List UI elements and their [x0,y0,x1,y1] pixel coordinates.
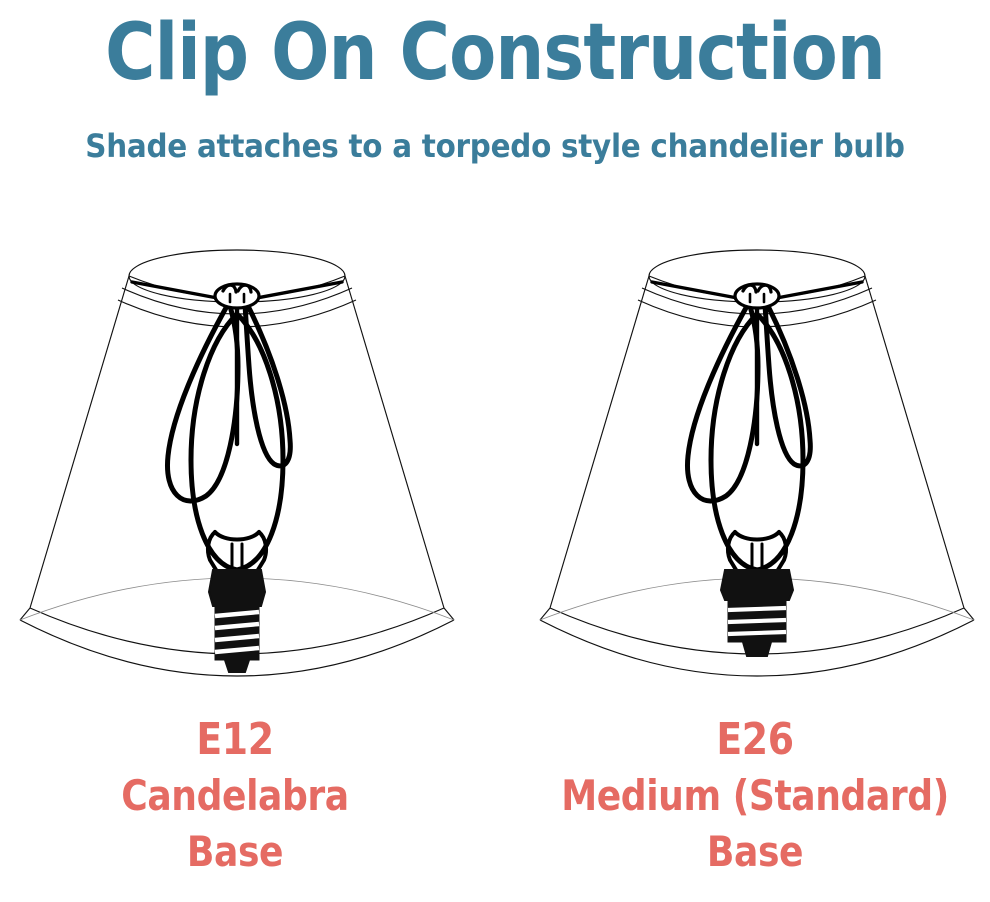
caption-e12-code: E12 [33,712,437,768]
caption-e12-line3: Base [33,824,437,880]
caption-e12: E12 Candelabra Base [0,712,470,880]
clip-ring-outer [735,284,779,308]
base-collar [721,570,793,600]
clip-ring [215,284,259,308]
base-foot-contact [225,660,249,672]
caption-e26-code: E26 [553,712,957,768]
shade-side-left [30,276,129,608]
e12-screw-base [209,570,265,672]
header-block: Clip On Construction [0,8,990,98]
page-title: Clip On Construction [59,8,930,98]
base-foot-contact [743,642,771,656]
lamp-shade-diagram-illustration [2,248,472,708]
subheader-block: Shade attaches to a torpedo style chande… [0,126,990,166]
caption-e26: E26 Medium (Standard) Base [520,712,990,880]
shade-side-right [345,276,444,608]
shade-side-right [865,276,964,608]
e26-screw-base [721,570,793,656]
clip-ring [735,284,779,308]
caption-e26-line3: Base [553,824,957,880]
diagram-row [0,248,990,708]
caption-e12-line2: Candelabra [33,768,437,824]
infographic-canvas: Clip On Construction Shade attaches to a… [0,0,990,902]
diagram-e12 [2,248,472,708]
base-collar [209,570,265,606]
diagram-e26 [522,248,990,708]
page-subtitle: Shade attaches to a torpedo style chande… [40,126,951,166]
caption-e26-line2: Medium (Standard) [553,768,957,824]
caption-row: E12 Candelabra Base E26 Medium (Standard… [0,712,990,902]
shade-side-left [550,276,649,608]
clip-ring-outer [215,284,259,308]
lamp-shade-diagram-illustration [522,248,990,708]
